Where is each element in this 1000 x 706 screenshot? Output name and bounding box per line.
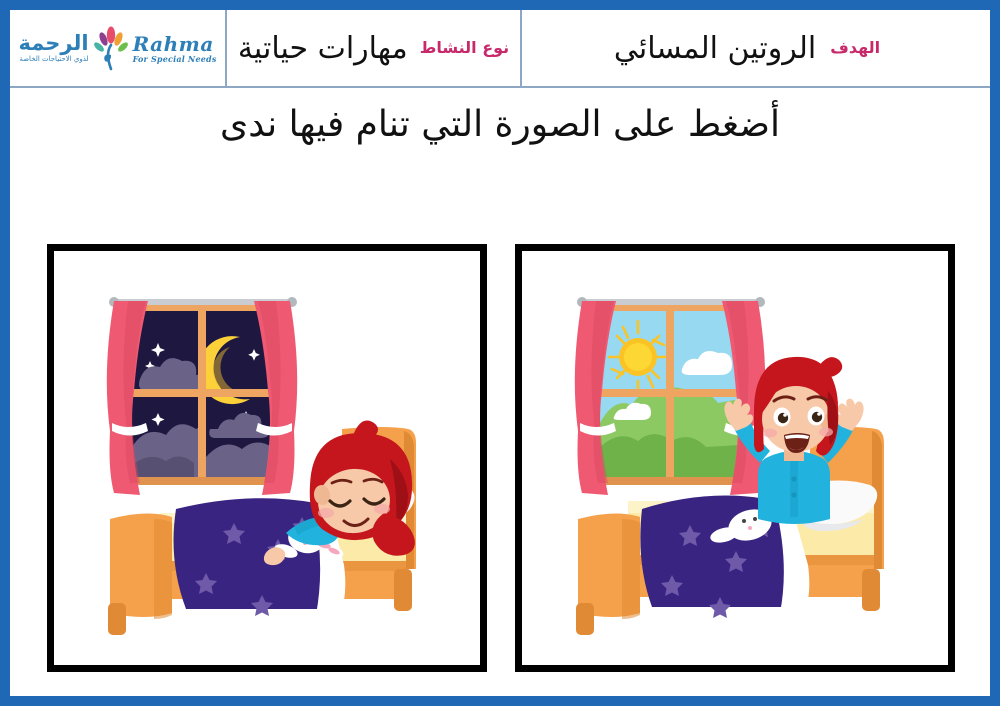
header-goal-cell: الهدف الروتين المسائي <box>522 10 990 86</box>
logo-arabic-text: الرحمة لذوي الاحتياجات الخاصة <box>18 33 88 63</box>
instruction-text: أضغط على الصورة التي تنام فيها ندى <box>10 102 990 147</box>
rahma-logo: Rahma For Special Needs الرحمة لذوي الاح… <box>18 25 216 71</box>
logo-arabic-tagline: لذوي الاحتياجات الخاصة <box>19 56 88 63</box>
logo-arabic-name: الرحمة <box>18 33 88 54</box>
activity-type-label: نوع النشاط <box>420 40 509 56</box>
goal-value: الروتين المسائي <box>614 32 816 65</box>
image-option-night[interactable] <box>47 244 487 672</box>
tulip-flower-icon <box>93 25 129 71</box>
morning-scene-illustration <box>522 251 948 665</box>
worksheet-page: الهدف الروتين المسائي نوع النشاط مهارات … <box>0 0 1000 706</box>
image-option-morning[interactable] <box>515 244 955 672</box>
header-logo-cell: Rahma For Special Needs الرحمة لذوي الاح… <box>10 10 227 86</box>
header-activity-cell: نوع النشاط مهارات حياتية <box>227 10 522 86</box>
logo-latin-tagline: For Special Needs <box>133 55 217 63</box>
night-scene-illustration <box>54 251 480 665</box>
activity-type-value: مهارات حياتية <box>238 32 408 65</box>
worksheet-header: الهدف الروتين المسائي نوع النشاط مهارات … <box>10 10 990 88</box>
logo-latin-text: Rahma For Special Needs <box>133 34 217 63</box>
logo-latin-name: Rahma <box>133 34 214 54</box>
image-options-row <box>47 244 955 672</box>
goal-label: الهدف <box>830 40 880 56</box>
